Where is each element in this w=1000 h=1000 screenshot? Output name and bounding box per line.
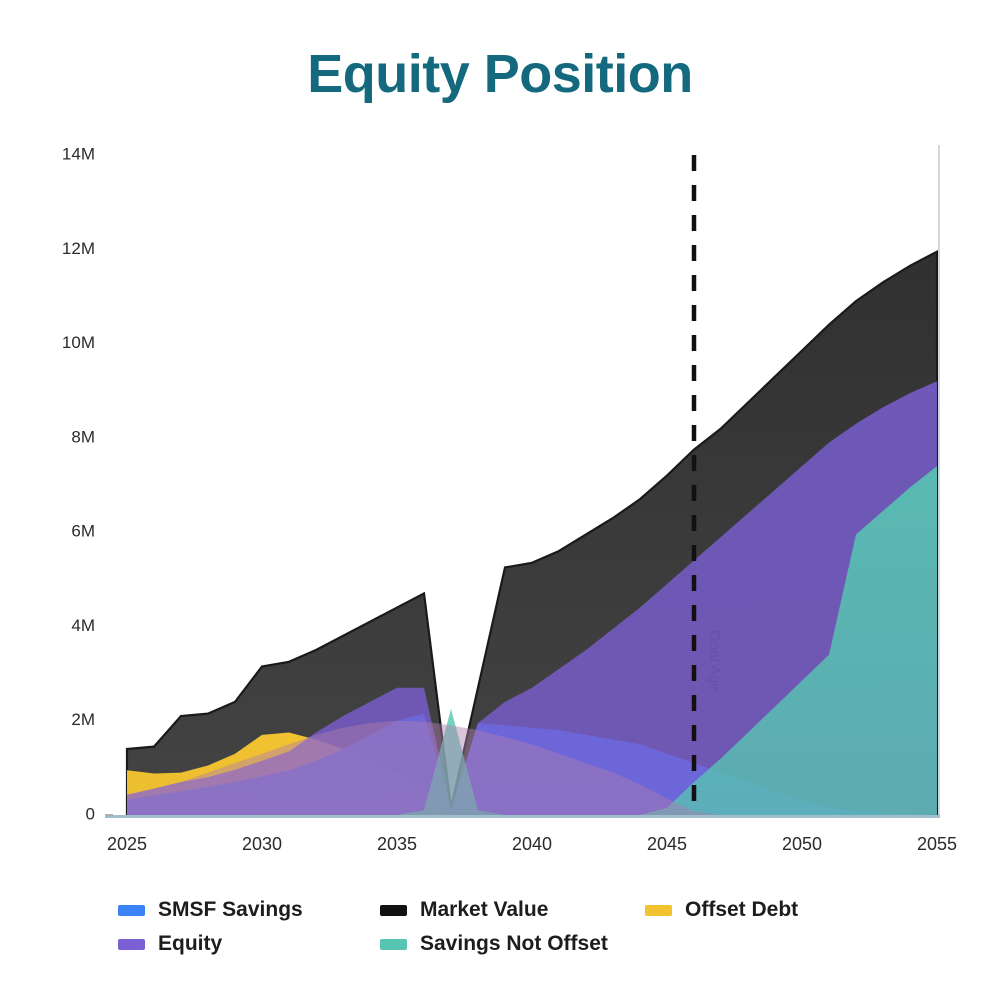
legend-swatch-icon bbox=[118, 905, 145, 916]
legend-label: Equity bbox=[158, 932, 222, 956]
x-tick-label: 2040 bbox=[512, 834, 552, 854]
chart-card: Equity Position 02M4M6M8M10M12M14M202520… bbox=[0, 0, 1000, 1000]
x-tick-label: 2030 bbox=[242, 834, 282, 854]
legend-item-savings-not-offset[interactable]: Savings Not Offset bbox=[380, 932, 645, 956]
legend-swatch-icon bbox=[380, 939, 407, 950]
x-tick-label: 2045 bbox=[647, 834, 687, 854]
x-tick-label: 2035 bbox=[377, 834, 417, 854]
legend-item-offset-debt[interactable]: Offset Debt bbox=[645, 898, 907, 922]
x-tick-label: 2055 bbox=[917, 834, 957, 854]
y-axis: 02M4M6M8M10M12M14M bbox=[62, 144, 113, 823]
stacked-areas bbox=[127, 252, 937, 815]
chart-legend: SMSF SavingsMarket ValueOffset DebtEquit… bbox=[118, 893, 918, 961]
y-tick-label: 0 bbox=[86, 804, 95, 823]
legend-swatch-icon bbox=[380, 905, 407, 916]
legend-item-market-value[interactable]: Market Value bbox=[380, 898, 645, 922]
legend-swatch-icon bbox=[118, 939, 145, 950]
legend-swatch-icon bbox=[645, 905, 672, 916]
x-axis: 2025203020352040204520502055 bbox=[107, 834, 957, 854]
legend-label: Market Value bbox=[420, 898, 548, 922]
y-tick-label: 12M bbox=[62, 239, 95, 258]
x-tick-label: 2025 bbox=[107, 834, 147, 854]
y-tick-label: 4M bbox=[71, 616, 95, 635]
y-tick-label: 6M bbox=[71, 522, 95, 541]
goal-age-label: Goal Age bbox=[706, 630, 723, 692]
legend-label: SMSF Savings bbox=[158, 898, 303, 922]
legend-label: Offset Debt bbox=[685, 898, 798, 922]
x-tick-label: 2050 bbox=[782, 834, 822, 854]
page-title: Equity Position bbox=[0, 45, 1000, 104]
legend-label: Savings Not Offset bbox=[420, 932, 608, 956]
y-tick-label: 2M bbox=[71, 710, 95, 729]
y-tick-label: 14M bbox=[62, 144, 95, 163]
legend-item-smsf-savings[interactable]: SMSF Savings bbox=[118, 898, 380, 922]
plot-area: 02M4M6M8M10M12M14M2025203020352040204520… bbox=[0, 130, 1000, 875]
area-chart-svg: 02M4M6M8M10M12M14M2025203020352040204520… bbox=[0, 130, 1000, 875]
y-tick-label: 8M bbox=[71, 427, 95, 446]
y-tick-label: 10M bbox=[62, 333, 95, 352]
legend-item-equity[interactable]: Equity bbox=[118, 932, 380, 956]
